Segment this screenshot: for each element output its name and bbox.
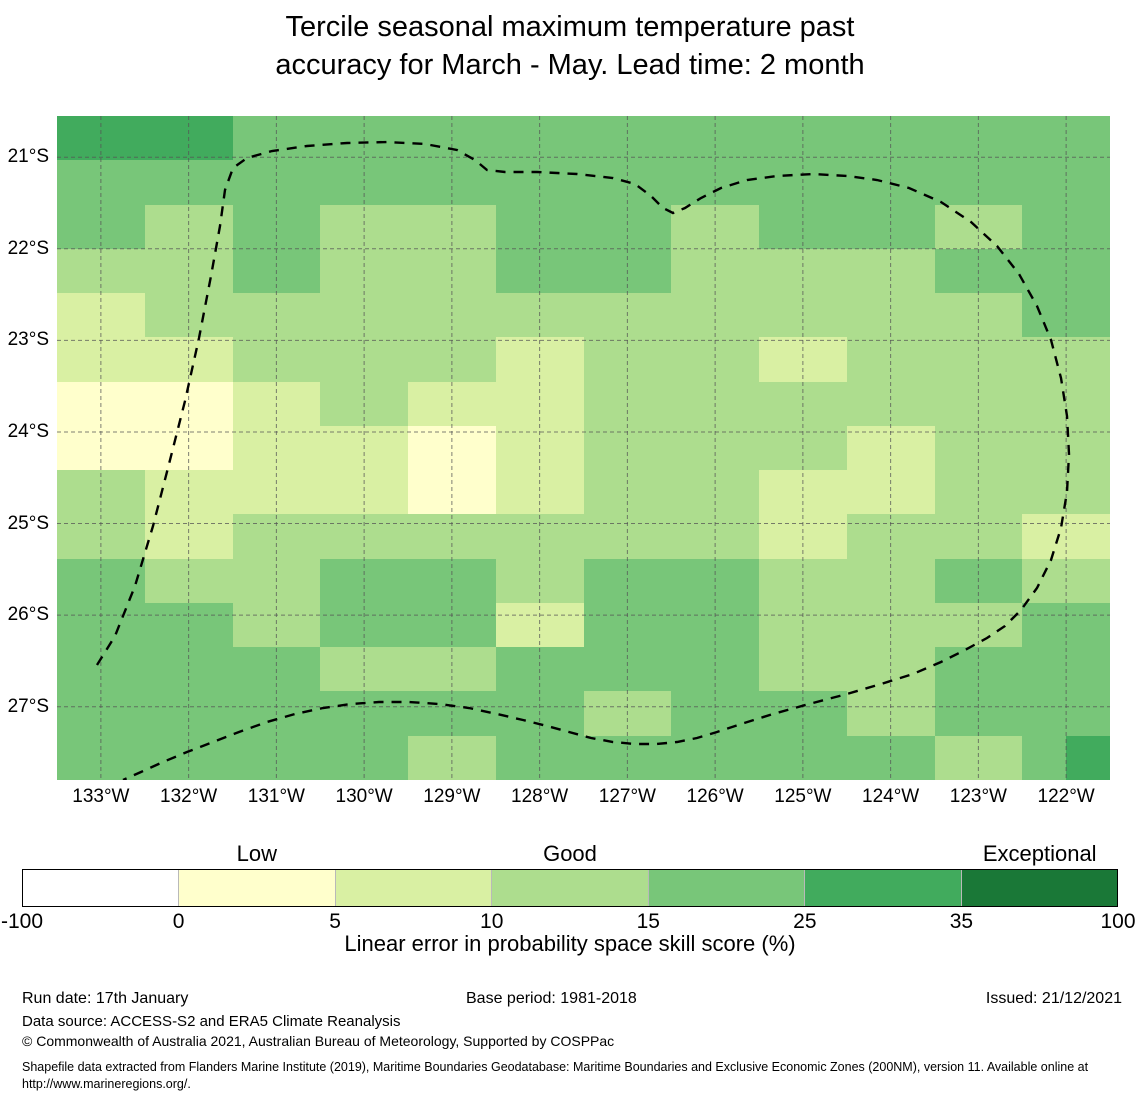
footer-copyright: © Commonwealth of Australia 2021, Austra… <box>22 1033 614 1049</box>
heatmap-cell <box>408 293 452 337</box>
heatmap-cell <box>276 559 320 603</box>
heatmap-cell <box>452 736 496 780</box>
heatmap-cell <box>496 736 540 780</box>
heatmap-cell <box>803 116 847 160</box>
heatmap-cell <box>57 691 101 735</box>
heatmap-cell <box>233 470 277 514</box>
heatmap-cell <box>364 514 408 558</box>
heatmap-cell <box>847 205 891 249</box>
footer-data-source: Data source: ACCESS-S2 and ERA5 Climate … <box>22 1013 401 1030</box>
heatmap-cell <box>671 382 715 426</box>
heatmap-cell <box>233 205 277 249</box>
heatmap-cell <box>276 249 320 293</box>
heatmap-cell <box>1066 559 1110 603</box>
y-axis-tick-label: 27°S <box>8 696 49 718</box>
heatmap-cell <box>145 514 189 558</box>
heatmap-cell <box>233 603 277 647</box>
heatmap-cell <box>233 426 277 470</box>
heatmap-cell <box>671 205 715 249</box>
colorbar[interactable] <box>22 869 1118 907</box>
heatmap-cell <box>847 514 891 558</box>
heatmap-cell <box>540 691 584 735</box>
heatmap-cell <box>715 116 759 160</box>
heatmap-cell <box>1066 160 1110 204</box>
heatmap-cell <box>145 382 189 426</box>
heatmap-cell <box>1022 293 1066 337</box>
heatmap-cell <box>1022 691 1066 735</box>
heatmap-cell <box>935 337 979 381</box>
heatmap-cell <box>978 160 1022 204</box>
heatmap-cell <box>847 337 891 381</box>
heatmap-cell <box>1022 382 1066 426</box>
heatmap-cell <box>496 116 540 160</box>
footer-run-date: Run date: 17th January <box>22 990 188 1008</box>
heatmap-cell <box>233 514 277 558</box>
heatmap-cell <box>496 691 540 735</box>
heatmap-cell <box>627 691 671 735</box>
heatmap-cell <box>233 116 277 160</box>
heatmap-cell <box>759 205 803 249</box>
heatmap-cell <box>715 293 759 337</box>
heatmap-cell <box>452 559 496 603</box>
heatmap-cell <box>57 603 101 647</box>
heatmap-cell <box>145 603 189 647</box>
page-title: Tercile seasonal maximum temperature pas… <box>0 8 1140 84</box>
heatmap-cell <box>320 382 364 426</box>
heatmap-cell <box>891 116 935 160</box>
heatmap-cell <box>891 337 935 381</box>
heatmap-cell <box>584 514 628 558</box>
heatmap-cell <box>847 736 891 780</box>
heatmap-cell <box>978 691 1022 735</box>
heatmap-cell <box>57 337 101 381</box>
heatmap-cell <box>1066 205 1110 249</box>
heatmap-cell <box>759 691 803 735</box>
heatmap-cell <box>891 382 935 426</box>
heatmap-cell <box>891 514 935 558</box>
heatmap-cell <box>847 559 891 603</box>
heatmap-cell <box>364 559 408 603</box>
heatmap-cell <box>276 293 320 337</box>
heatmap-cell <box>978 647 1022 691</box>
heatmap-cell <box>627 337 671 381</box>
heatmap-cell <box>935 470 979 514</box>
heatmap-cell <box>891 470 935 514</box>
heatmap-cell <box>189 514 233 558</box>
heatmap-cell <box>57 470 101 514</box>
heatmap-cell <box>803 736 847 780</box>
heatmap-cell <box>57 293 101 337</box>
heatmap-cell <box>627 382 671 426</box>
heatmap-cell <box>978 116 1022 160</box>
heatmap-cell <box>276 116 320 160</box>
heatmap-cell <box>189 426 233 470</box>
heatmap-cell <box>57 647 101 691</box>
heatmap-cell <box>803 647 847 691</box>
heatmap-cell <box>715 603 759 647</box>
heatmap-cell <box>145 470 189 514</box>
heatmap-cell <box>715 736 759 780</box>
heatmap-cell <box>452 205 496 249</box>
heatmap-cell <box>1022 249 1066 293</box>
x-axis-tick-label: 131°W <box>248 786 305 808</box>
heatmap-cell <box>320 470 364 514</box>
heatmap-cell <box>1022 426 1066 470</box>
heatmap-cell <box>189 116 233 160</box>
x-axis-tick-label: 125°W <box>774 786 831 808</box>
heatmap-cell <box>408 426 452 470</box>
heatmap-cell <box>1066 470 1110 514</box>
heatmap-cell <box>759 249 803 293</box>
heatmap-cell <box>1022 736 1066 780</box>
heatmap-cell <box>715 691 759 735</box>
heatmap-cell <box>276 603 320 647</box>
heatmap-cell <box>364 116 408 160</box>
heatmap-cell <box>189 470 233 514</box>
heatmap-cell <box>759 116 803 160</box>
y-axis-tick-label: 22°S <box>8 238 49 260</box>
heatmap-cell <box>364 426 408 470</box>
heatmap-cell <box>364 249 408 293</box>
heatmap-cell <box>891 736 935 780</box>
heatmap-cell <box>320 426 364 470</box>
heatmap-cell <box>1066 736 1110 780</box>
heatmap-cell <box>540 160 584 204</box>
footer-base-period: Base period: 1981-2018 <box>466 990 637 1008</box>
heatmap-cell <box>1066 603 1110 647</box>
heatmap-cell <box>408 559 452 603</box>
heatmap-cell <box>935 736 979 780</box>
heatmap-cell <box>145 736 189 780</box>
heatmap-cell <box>320 160 364 204</box>
heatmap-cell <box>452 249 496 293</box>
heatmap-cell <box>189 559 233 603</box>
heatmap-cell <box>803 514 847 558</box>
heatmap-cell <box>978 559 1022 603</box>
x-axis-tick-label: 122°W <box>1038 786 1095 808</box>
heatmap-cell <box>803 603 847 647</box>
heatmap-cell <box>671 337 715 381</box>
colorbar-segments[interactable] <box>22 869 1118 907</box>
heatmap-cell <box>847 603 891 647</box>
heatmap-cell <box>364 293 408 337</box>
x-axis-tick-label: 126°W <box>687 786 744 808</box>
heatmap-cell <box>935 160 979 204</box>
heatmap-cell <box>759 470 803 514</box>
heatmap-cell <box>627 293 671 337</box>
footer-meta-row: Run date: 17th January Base period: 1981… <box>22 990 1122 1010</box>
heatmap-cell <box>759 293 803 337</box>
heatmap-cell <box>189 249 233 293</box>
heatmap-cell <box>452 426 496 470</box>
x-axis-tick-label: 133°W <box>72 786 129 808</box>
heatmap-cell <box>101 426 145 470</box>
heatmap-cell <box>978 249 1022 293</box>
heatmap-cell <box>759 514 803 558</box>
heatmap-cell <box>803 160 847 204</box>
heatmap-cell <box>540 205 584 249</box>
heatmap-cell <box>276 160 320 204</box>
heatmap-cell <box>233 293 277 337</box>
heatmap-cell <box>978 603 1022 647</box>
heatmap-cell <box>715 205 759 249</box>
heatmap-cell <box>145 205 189 249</box>
heatmap-cell <box>408 603 452 647</box>
heatmap-cell <box>935 647 979 691</box>
colorbar-segment[interactable] <box>961 870 1117 906</box>
heatmap-cell <box>364 337 408 381</box>
heatmap-cell <box>540 337 584 381</box>
heatmap-cell <box>759 559 803 603</box>
heatmap-cell <box>408 691 452 735</box>
heatmap-cell <box>364 470 408 514</box>
heatmap-cell <box>759 736 803 780</box>
heatmap-cell <box>935 116 979 160</box>
heatmap-cell <box>101 116 145 160</box>
heatmap-cell <box>803 470 847 514</box>
heatmap-cell <box>1066 249 1110 293</box>
heatmap-cell <box>540 249 584 293</box>
heatmap-cell <box>1022 559 1066 603</box>
footer-issued-date: Issued: 21/12/2021 <box>986 990 1122 1008</box>
heatmap-cell <box>57 514 101 558</box>
heatmap-cell <box>452 293 496 337</box>
heatmap-cell <box>935 249 979 293</box>
heatmap-cell <box>584 647 628 691</box>
heatmap-cell <box>496 470 540 514</box>
heatmap-cell <box>408 205 452 249</box>
heatmap-cell <box>847 691 891 735</box>
heatmap-cell <box>584 470 628 514</box>
heatmap-cell <box>233 647 277 691</box>
heatmap-cell <box>189 736 233 780</box>
heatmap-cell <box>408 514 452 558</box>
heatmap-cell <box>847 160 891 204</box>
heatmap-cell <box>715 337 759 381</box>
heatmap-cell <box>715 470 759 514</box>
heatmap-cell <box>57 249 101 293</box>
heatmap-cell <box>803 337 847 381</box>
heatmap-cell <box>233 249 277 293</box>
heatmap-cell <box>671 603 715 647</box>
heatmap-cell <box>189 205 233 249</box>
heatmap-cell <box>803 205 847 249</box>
heatmap-cell <box>320 559 364 603</box>
heatmap-cell <box>57 382 101 426</box>
heatmap-cell <box>540 382 584 426</box>
heatmap-cell <box>189 293 233 337</box>
heatmap-cell <box>671 470 715 514</box>
heatmap-cell <box>1066 116 1110 160</box>
heatmap-cell <box>715 160 759 204</box>
heatmap-cell <box>101 205 145 249</box>
heatmap-cell <box>627 736 671 780</box>
heatmap-cell <box>1066 691 1110 735</box>
colorbar-category-label: Good <box>543 841 597 867</box>
colorbar-segment[interactable] <box>178 870 334 906</box>
heatmap-cell <box>803 559 847 603</box>
heatmap-cell <box>978 205 1022 249</box>
heatmap-cell <box>364 603 408 647</box>
x-axis-tick-label: 129°W <box>423 786 480 808</box>
heatmap-cell <box>320 647 364 691</box>
heatmap-cell <box>935 293 979 337</box>
heatmap-cell <box>364 205 408 249</box>
heatmap-cell <box>364 691 408 735</box>
heatmap-cell <box>1022 116 1066 160</box>
colorbar-segment[interactable] <box>23 870 178 906</box>
heatmap-plot-area <box>57 116 1110 780</box>
heatmap-cell <box>1022 205 1066 249</box>
heatmap-cell <box>978 426 1022 470</box>
heatmap-cell <box>847 293 891 337</box>
heatmap-cell <box>1066 426 1110 470</box>
heatmap-cell <box>627 426 671 470</box>
heatmap-cell <box>671 691 715 735</box>
heatmap-cell <box>233 691 277 735</box>
heatmap-cell <box>145 559 189 603</box>
heatmap-cell <box>935 205 979 249</box>
heatmap-cell <box>233 559 277 603</box>
heatmap-cell <box>320 691 364 735</box>
heatmap-cell <box>408 736 452 780</box>
x-axis-tick-label: 124°W <box>862 786 919 808</box>
heatmap-cell <box>803 691 847 735</box>
heatmap-cell <box>408 470 452 514</box>
heatmap-cell <box>145 160 189 204</box>
heatmap-cell <box>759 603 803 647</box>
heatmap-cell <box>891 647 935 691</box>
heatmap-cell <box>496 160 540 204</box>
heatmap-cell <box>627 205 671 249</box>
heatmap-cell <box>935 559 979 603</box>
colorbar-axis-title: Linear error in probability space skill … <box>0 931 1140 957</box>
heatmap-cell <box>57 559 101 603</box>
heatmap-cell <box>364 647 408 691</box>
heatmap-cell <box>671 647 715 691</box>
heatmap-cell <box>891 249 935 293</box>
heatmap-cell <box>803 249 847 293</box>
heatmap-cell <box>759 382 803 426</box>
heatmap-cell <box>276 426 320 470</box>
heatmap-cell <box>540 470 584 514</box>
heatmap-cell <box>1022 514 1066 558</box>
heatmap-cell <box>540 736 584 780</box>
heatmap-cell <box>540 293 584 337</box>
heatmap-cell <box>1066 337 1110 381</box>
heatmap-cell <box>627 603 671 647</box>
heatmap-cell <box>496 205 540 249</box>
heatmap-cell <box>847 249 891 293</box>
heatmap-cell <box>320 249 364 293</box>
heatmap-cell <box>978 470 1022 514</box>
heatmap-cell <box>452 647 496 691</box>
heatmap-cell <box>627 470 671 514</box>
heatmap-cell <box>496 382 540 426</box>
heatmap-cell <box>145 426 189 470</box>
heatmap-cell <box>847 647 891 691</box>
heatmap-cell <box>101 603 145 647</box>
heatmap-cell <box>408 249 452 293</box>
heatmap-cell <box>891 205 935 249</box>
heatmap-cell <box>101 160 145 204</box>
heatmap-cell <box>408 647 452 691</box>
heatmap-cell <box>320 603 364 647</box>
heatmap-cell <box>978 293 1022 337</box>
heatmap-cell <box>935 426 979 470</box>
heatmap-cell <box>584 426 628 470</box>
heatmap-cell <box>408 160 452 204</box>
heatmap-cell <box>320 514 364 558</box>
heatmap-cell <box>496 293 540 337</box>
heatmap-cell <box>671 559 715 603</box>
heatmap-cell <box>803 382 847 426</box>
heatmap-cell <box>57 736 101 780</box>
heatmap-cell <box>189 337 233 381</box>
heatmap-cell <box>540 514 584 558</box>
heatmap-cell <box>584 293 628 337</box>
heatmap-cell <box>715 426 759 470</box>
heatmap-cell <box>584 116 628 160</box>
heatmap-cell <box>276 736 320 780</box>
heatmap-cell <box>276 691 320 735</box>
heatmap-cell <box>145 249 189 293</box>
heatmap-cell <box>276 647 320 691</box>
heatmap-cell <box>189 160 233 204</box>
heatmap-cell <box>233 337 277 381</box>
heatmap-cell <box>233 736 277 780</box>
heatmap-cell <box>233 160 277 204</box>
heatmap-cell <box>496 647 540 691</box>
y-axis-tick-label: 21°S <box>8 146 49 168</box>
heatmap-cell <box>584 691 628 735</box>
colorbar-segment[interactable] <box>648 870 804 906</box>
heatmap-cell <box>452 691 496 735</box>
heatmap-cell <box>671 116 715 160</box>
heatmap-cell <box>627 559 671 603</box>
heatmap-cell <box>496 559 540 603</box>
heatmap-cell <box>584 382 628 426</box>
heatmap-cell <box>145 691 189 735</box>
heatmap-cell <box>320 205 364 249</box>
heatmap-cell <box>540 426 584 470</box>
heatmap-cell <box>496 514 540 558</box>
heatmap-cell <box>408 382 452 426</box>
colorbar-segment[interactable] <box>335 870 491 906</box>
colorbar-segment[interactable] <box>491 870 647 906</box>
heatmap-cell <box>759 647 803 691</box>
heatmap-cell <box>452 382 496 426</box>
colorbar-segment[interactable] <box>804 870 960 906</box>
heatmap-grid <box>57 116 1110 780</box>
heatmap-cell <box>101 249 145 293</box>
heatmap-cell <box>1022 603 1066 647</box>
y-axis-tick-label: 25°S <box>8 513 49 535</box>
heatmap-cell <box>540 603 584 647</box>
heatmap-cell <box>57 426 101 470</box>
heatmap-cell <box>101 559 145 603</box>
heatmap-cell <box>408 337 452 381</box>
heatmap-cell <box>584 249 628 293</box>
y-axis-tick-label: 24°S <box>8 421 49 443</box>
heatmap-cell <box>715 514 759 558</box>
heatmap-cell <box>584 337 628 381</box>
heatmap-cell <box>57 205 101 249</box>
heatmap-cell <box>408 116 452 160</box>
heatmap-cell <box>276 205 320 249</box>
heatmap-cell <box>978 736 1022 780</box>
heatmap-cell <box>57 116 101 160</box>
